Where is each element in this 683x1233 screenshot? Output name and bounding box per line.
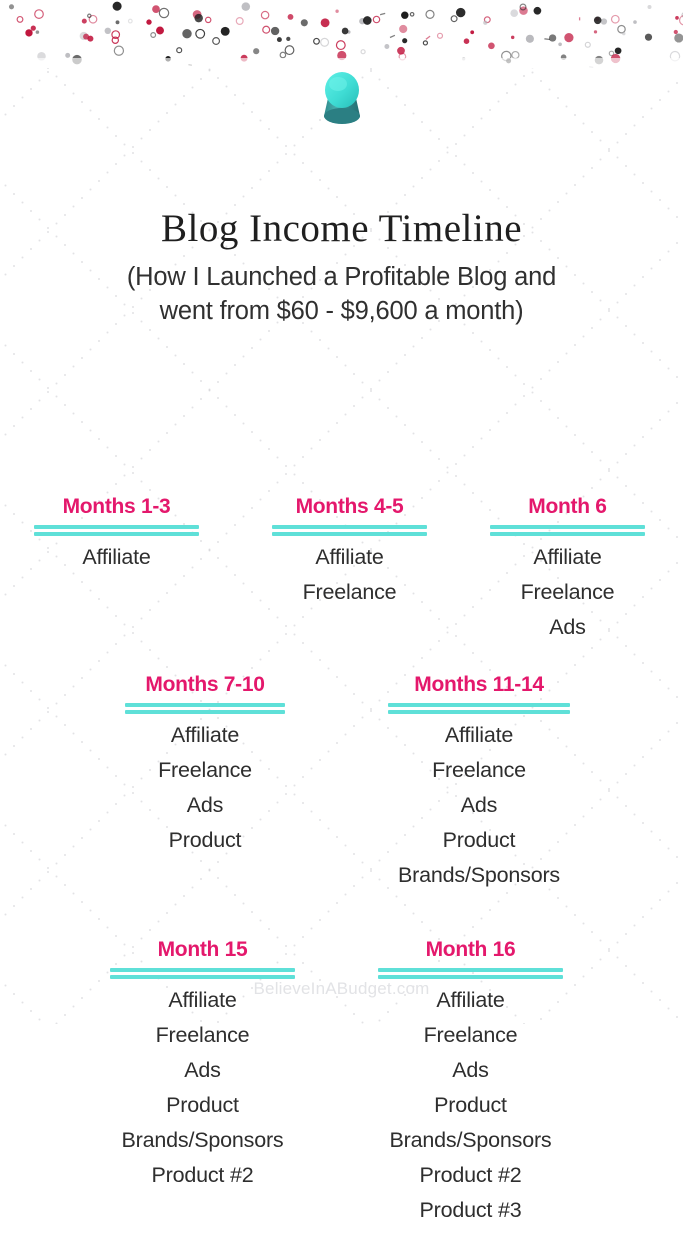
timeline-grid: Months 1-3 Affiliate Months 4-5 Affiliat… xyxy=(0,490,683,1233)
subtitle-line-1: (How I Launched a Profitable Blog and xyxy=(0,260,683,294)
double-rule-divider xyxy=(110,968,295,979)
list-item: Freelance xyxy=(388,753,570,788)
income-stream-list: Affiliate Freelance xyxy=(272,540,427,610)
timeline-card-months-1-3: Months 1-3 Affiliate xyxy=(34,494,199,575)
card-heading: Months 11-14 xyxy=(388,672,570,698)
list-item: Freelance xyxy=(490,575,645,610)
list-item: Freelance xyxy=(110,1018,295,1053)
list-item: Freelance xyxy=(272,575,427,610)
list-item: Brands/Sponsors xyxy=(110,1123,295,1158)
page-subtitle: (How I Launched a Profitable Blog and we… xyxy=(0,260,683,328)
list-item: Affiliate xyxy=(388,718,570,753)
list-item: Product xyxy=(388,823,570,858)
double-rule-divider xyxy=(272,525,427,536)
list-item: Product xyxy=(125,823,285,858)
double-rule-divider xyxy=(388,703,570,714)
income-stream-list: Affiliate Freelance Ads xyxy=(490,540,645,645)
list-item: Ads xyxy=(490,610,645,645)
double-rule-divider xyxy=(490,525,645,536)
income-stream-list: Affiliate Freelance Ads Product xyxy=(125,718,285,858)
double-rule-divider xyxy=(34,525,199,536)
timeline-card-months-7-10: Months 7-10 Affiliate Freelance Ads Prod… xyxy=(125,672,285,858)
list-item: Product #3 xyxy=(378,1193,563,1228)
double-rule-divider xyxy=(378,968,563,979)
subtitle-line-2: went from $60 - $9,600 a month) xyxy=(0,294,683,328)
list-item: Affiliate xyxy=(272,540,427,575)
confetti-washi-tape xyxy=(0,0,683,68)
timeline-row-2: Months 7-10 Affiliate Freelance Ads Prod… xyxy=(0,668,683,933)
list-item: Product #2 xyxy=(110,1158,295,1193)
thumbtack-pin-icon xyxy=(314,70,370,128)
page-title: Blog Income Timeline xyxy=(0,204,683,254)
timeline-card-month-15: Month 15 Affiliate Freelance Ads Product… xyxy=(110,937,295,1193)
timeline-row-3: Month 15 Affiliate Freelance Ads Product… xyxy=(0,933,683,1233)
list-item: Product xyxy=(378,1088,563,1123)
list-item: Brands/Sponsors xyxy=(388,858,570,893)
list-item: Ads xyxy=(388,788,570,823)
income-stream-list: Affiliate Freelance Ads Product Brands/S… xyxy=(110,983,295,1193)
double-rule-divider xyxy=(125,703,285,714)
income-stream-list: Affiliate Freelance Ads Product Brands/S… xyxy=(388,718,570,893)
card-heading: Month 15 xyxy=(110,937,295,963)
list-item: Affiliate xyxy=(490,540,645,575)
list-item: Brands/Sponsors xyxy=(378,1123,563,1158)
list-item: Ads xyxy=(378,1053,563,1088)
list-item: Ads xyxy=(125,788,285,823)
timeline-card-months-11-14: Months 11-14 Affiliate Freelance Ads Pro… xyxy=(388,672,570,893)
list-item: Freelance xyxy=(125,753,285,788)
card-heading: Month 6 xyxy=(490,494,645,520)
list-item: Affiliate xyxy=(34,540,199,575)
washi-tape-pattern xyxy=(0,0,683,68)
timeline-card-months-4-5: Months 4-5 Affiliate Freelance xyxy=(272,494,427,610)
timeline-row-1: Months 1-3 Affiliate Months 4-5 Affiliat… xyxy=(0,490,683,668)
card-heading: Months 7-10 xyxy=(125,672,285,698)
timeline-card-month-6: Month 6 Affiliate Freelance Ads xyxy=(490,494,645,645)
card-heading: Months 1-3 xyxy=(34,494,199,520)
list-item: Ads xyxy=(110,1053,295,1088)
list-item: Product #2 xyxy=(378,1158,563,1193)
site-watermark: BelieveInABudget.com xyxy=(0,979,683,999)
card-heading: Months 4-5 xyxy=(272,494,427,520)
infographic-page: Blog Income Timeline (How I Launched a P… xyxy=(0,0,683,1024)
list-item: Product xyxy=(110,1088,295,1123)
card-heading: Month 16 xyxy=(378,937,563,963)
header-block: Blog Income Timeline (How I Launched a P… xyxy=(0,204,683,328)
income-stream-list: Affiliate xyxy=(34,540,199,575)
list-item: Freelance xyxy=(378,1018,563,1053)
income-stream-list: Affiliate Freelance Ads Product Brands/S… xyxy=(378,983,563,1228)
list-item: Affiliate xyxy=(125,718,285,753)
